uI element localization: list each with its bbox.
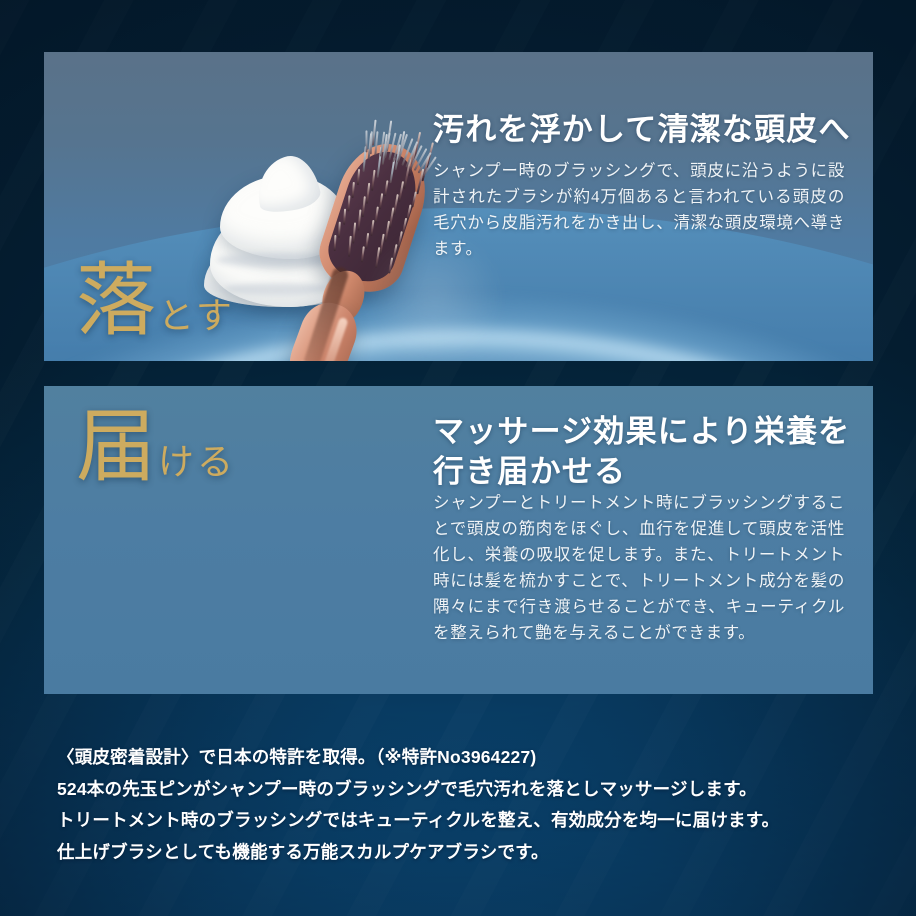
decorative-kanji-big: 届 xyxy=(76,404,158,492)
decorative-kana-small: とす xyxy=(158,296,235,336)
panel-body-cleanse: シャンプー時のブラッシングで、頭皮に沿うように設計されたブラシが約4万個あると言… xyxy=(433,158,845,262)
panel-body-massage: シャンプーとトリートメント時にブラッシングすることで頭皮の筋肉をほぐし、血行を促… xyxy=(433,490,845,646)
page-stage: 落とす 届ける 汚れを浮かして清潔な頭皮へ シャンプー時のブラッシングで、頭皮に… xyxy=(0,0,916,916)
panel-title-massage: マッサージ効果により栄養を 行き届かせる xyxy=(433,412,850,493)
footer-caption: 〈頭皮密着設計〉で日本の特許を取得。（※特許No3964227) 524本の先玉… xyxy=(57,742,887,868)
decorative-label-otosu: 落とす xyxy=(76,262,235,342)
panel-title-cleanse: 汚れを浮かして清潔な頭皮へ xyxy=(433,110,851,150)
decorative-label-todokeru: 届ける xyxy=(76,408,236,488)
decorative-kanji-big: 落 xyxy=(76,258,158,346)
decorative-kana-small: ける xyxy=(158,442,236,482)
